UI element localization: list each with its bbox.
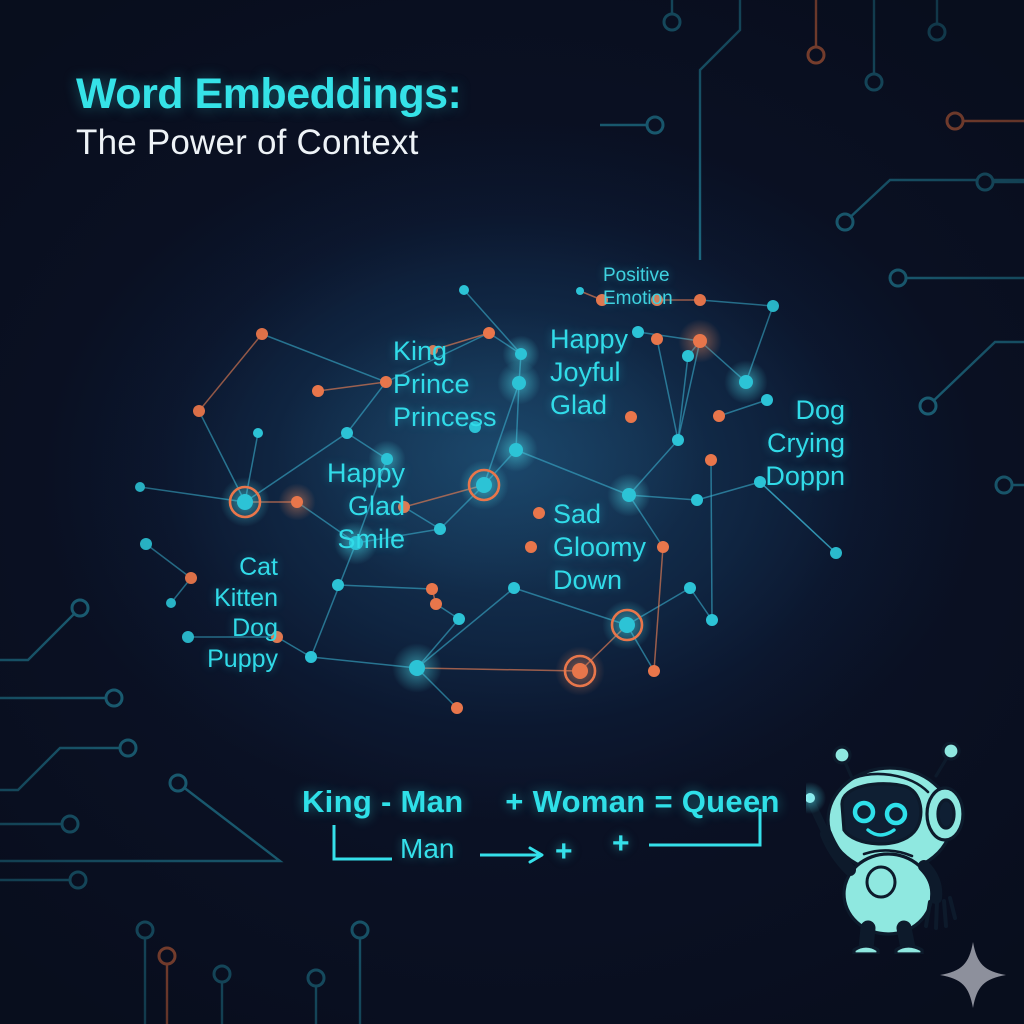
cluster-word: King — [393, 335, 497, 368]
eq-equals: = — [654, 784, 672, 819]
robot-ear-inner — [938, 800, 954, 828]
page-title: Word Embeddings: — [76, 72, 461, 117]
eq-woman: Woman — [533, 784, 646, 819]
eq-king: King — [302, 784, 372, 819]
eq2-plus-2: + — [612, 827, 630, 861]
cluster-word: Happy — [327, 457, 405, 490]
sparkle-shape — [940, 942, 1006, 1008]
cluster-word: Princess — [393, 401, 497, 434]
cluster-word: Crying — [765, 427, 845, 460]
cluster-label-sad-gloomy: SadGloomyDown — [553, 498, 646, 597]
cluster-word: Emotion — [603, 287, 673, 310]
cluster-label-happy-glad-smile: HappyGladSmile — [327, 457, 405, 556]
robot-mascot — [806, 742, 1024, 954]
cluster-label-royalty: KingPrincePrincess — [393, 335, 497, 434]
equation-line-1: King - Man + Woman = Queen — [302, 784, 780, 820]
cluster-word: Doppn — [765, 460, 845, 493]
cluster-word: Glad — [327, 490, 405, 523]
robot-foot-right — [896, 946, 922, 954]
eq-minus: - — [381, 784, 392, 819]
cluster-word: Cat — [207, 552, 278, 583]
cluster-word: Happy — [550, 323, 628, 356]
eq2-man: Man — [400, 833, 454, 865]
cluster-label-positive-emotion: PositiveEmotion — [603, 264, 673, 310]
cluster-word: Kitten — [207, 583, 278, 614]
eq-plus: + — [505, 784, 523, 819]
cluster-label-animals: CatKittenDogPuppy — [207, 552, 278, 674]
page-subtitle: The Power of Context — [76, 123, 461, 162]
pointer-glow — [806, 782, 826, 814]
cluster-word: Gloomy — [553, 531, 646, 564]
cluster-word: Glad — [550, 389, 628, 422]
robot-hand-right — [926, 898, 955, 928]
infographic-canvas: Word Embeddings: The Power of Context Ki… — [0, 0, 1024, 1024]
cluster-word: Joyful — [550, 356, 628, 389]
eq-queen: Queen — [682, 784, 780, 819]
cluster-word: Positive — [603, 264, 673, 287]
title-block: Word Embeddings: The Power of Context — [76, 72, 461, 162]
cluster-word: Prince — [393, 368, 497, 401]
cluster-label-dog-crying: DogCryingDoppn — [765, 394, 845, 493]
eq-man: Man — [401, 784, 464, 819]
cluster-word: Down — [553, 564, 646, 597]
antenna-right-tip-icon — [943, 743, 959, 759]
equation-line-2: Man + + — [302, 823, 780, 871]
robot-foot-left — [854, 946, 878, 954]
left-bracket-icon — [334, 825, 392, 859]
cluster-label-happy-joyful: HappyJoyfulGlad — [550, 323, 628, 422]
cluster-word: Dog — [765, 394, 845, 427]
cluster-word: Smile — [327, 523, 405, 556]
four-point-sparkle-icon — [938, 940, 1008, 1010]
cluster-word: Sad — [553, 498, 646, 531]
eq2-plus-1: + — [555, 835, 573, 869]
analogy-equation: King - Man + Woman = Queen Man + + — [302, 784, 780, 871]
cluster-word: Puppy — [207, 644, 278, 675]
antenna-left-tip-icon — [834, 747, 850, 763]
cluster-word: Dog — [207, 613, 278, 644]
